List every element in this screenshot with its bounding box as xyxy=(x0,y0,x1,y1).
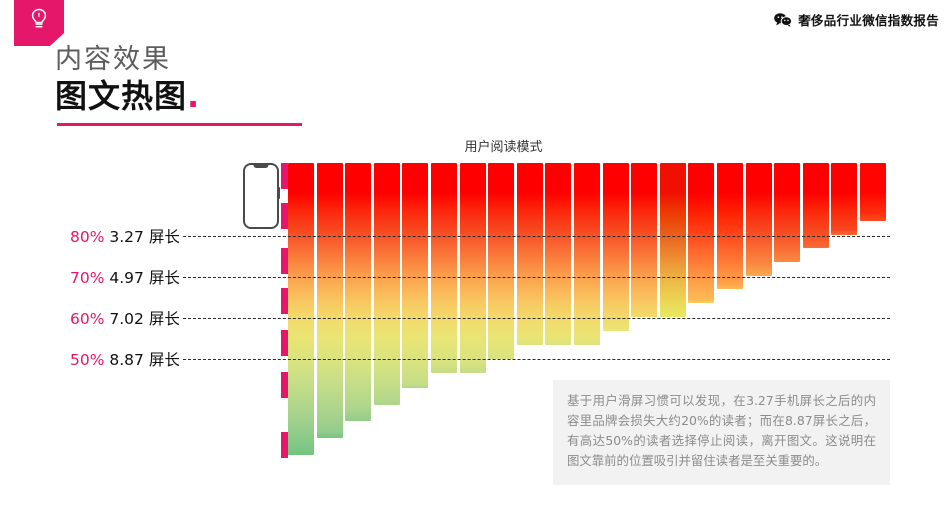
heatmap-column xyxy=(460,163,486,373)
scale-tick xyxy=(281,288,288,314)
reference-percent: 80% xyxy=(70,228,104,246)
title-underline xyxy=(57,123,302,126)
heading-dot: . xyxy=(187,77,200,115)
heatmap-column xyxy=(831,163,857,235)
scale-tick xyxy=(281,163,288,189)
lightbulb-icon xyxy=(29,7,49,36)
chart-title-text: 用户阅读模式 xyxy=(464,140,542,155)
reference-unit: 屏长 xyxy=(149,351,180,369)
reference-value: 3.27 xyxy=(109,228,144,246)
reference-label: 50% 8.87 屏长 xyxy=(70,348,180,370)
insight-note: 基于用户滑屏习惯可以发现，在3.27手机屏长之后的内容里品牌会损失大约20%的读… xyxy=(553,380,890,485)
heatmap-column xyxy=(345,163,371,421)
reference-line xyxy=(183,277,890,278)
reference-line xyxy=(183,318,890,319)
brand-badge xyxy=(14,0,64,46)
reference-value: 8.87 xyxy=(109,351,144,369)
reference-label: 60% 7.02 屏长 xyxy=(70,307,180,329)
reference-percent: 60% xyxy=(70,310,104,328)
heatmap-column xyxy=(660,163,686,317)
reference-line xyxy=(183,236,890,237)
chart-title: 用户阅读模式 xyxy=(0,136,947,155)
reference-value: 4.97 xyxy=(109,269,144,287)
page-subtitle: 内容效果 xyxy=(55,44,302,75)
scale-tick xyxy=(281,248,288,274)
heatmap-column xyxy=(746,163,772,276)
reference-unit: 屏长 xyxy=(149,228,180,246)
phone-side-button xyxy=(278,187,280,199)
heatmap-column xyxy=(402,163,428,388)
report-title: 奢侈品行业微信指数报告 xyxy=(798,10,939,29)
heatmap-column xyxy=(860,163,886,221)
heatmap-column xyxy=(431,163,457,373)
heatmap-column xyxy=(603,163,629,331)
reference-unit: 屏长 xyxy=(149,310,180,328)
scale-tick xyxy=(281,372,288,398)
reference-percent: 70% xyxy=(70,269,104,287)
reference-unit: 屏长 xyxy=(149,269,180,287)
heatmap-column xyxy=(774,163,800,262)
reference-line xyxy=(183,359,890,360)
reference-label: 80% 3.27 屏长 xyxy=(70,225,180,247)
heatmap-column xyxy=(374,163,400,405)
reference-label: 70% 4.97 屏长 xyxy=(70,266,180,288)
wechat-icon xyxy=(774,13,792,27)
reference-value: 7.02 xyxy=(109,310,144,328)
heatmap-column xyxy=(631,163,657,317)
insight-note-text: 基于用户滑屏习惯可以发现，在3.27手机屏长之后的内容里品牌会损失大约20%的读… xyxy=(567,391,876,471)
reference-percent: 50% xyxy=(70,351,104,369)
heatmap-column xyxy=(717,163,743,289)
phone-notch xyxy=(254,164,269,168)
heatmap-column xyxy=(688,163,714,303)
heatmap-column xyxy=(288,163,314,455)
phone-mockup-icon xyxy=(243,163,279,229)
heatmap-column xyxy=(317,163,343,438)
scale-tick xyxy=(281,330,288,356)
scale-tick xyxy=(281,432,288,458)
scale-tick xyxy=(281,203,288,229)
page-heading-text: 图文热图 xyxy=(55,77,187,115)
heatmap-column xyxy=(488,163,514,359)
report-header: 奢侈品行业微信指数报告 xyxy=(774,10,939,29)
page-title: 内容效果 图文热图. xyxy=(55,44,302,126)
page-heading: 图文热图. xyxy=(55,77,302,115)
